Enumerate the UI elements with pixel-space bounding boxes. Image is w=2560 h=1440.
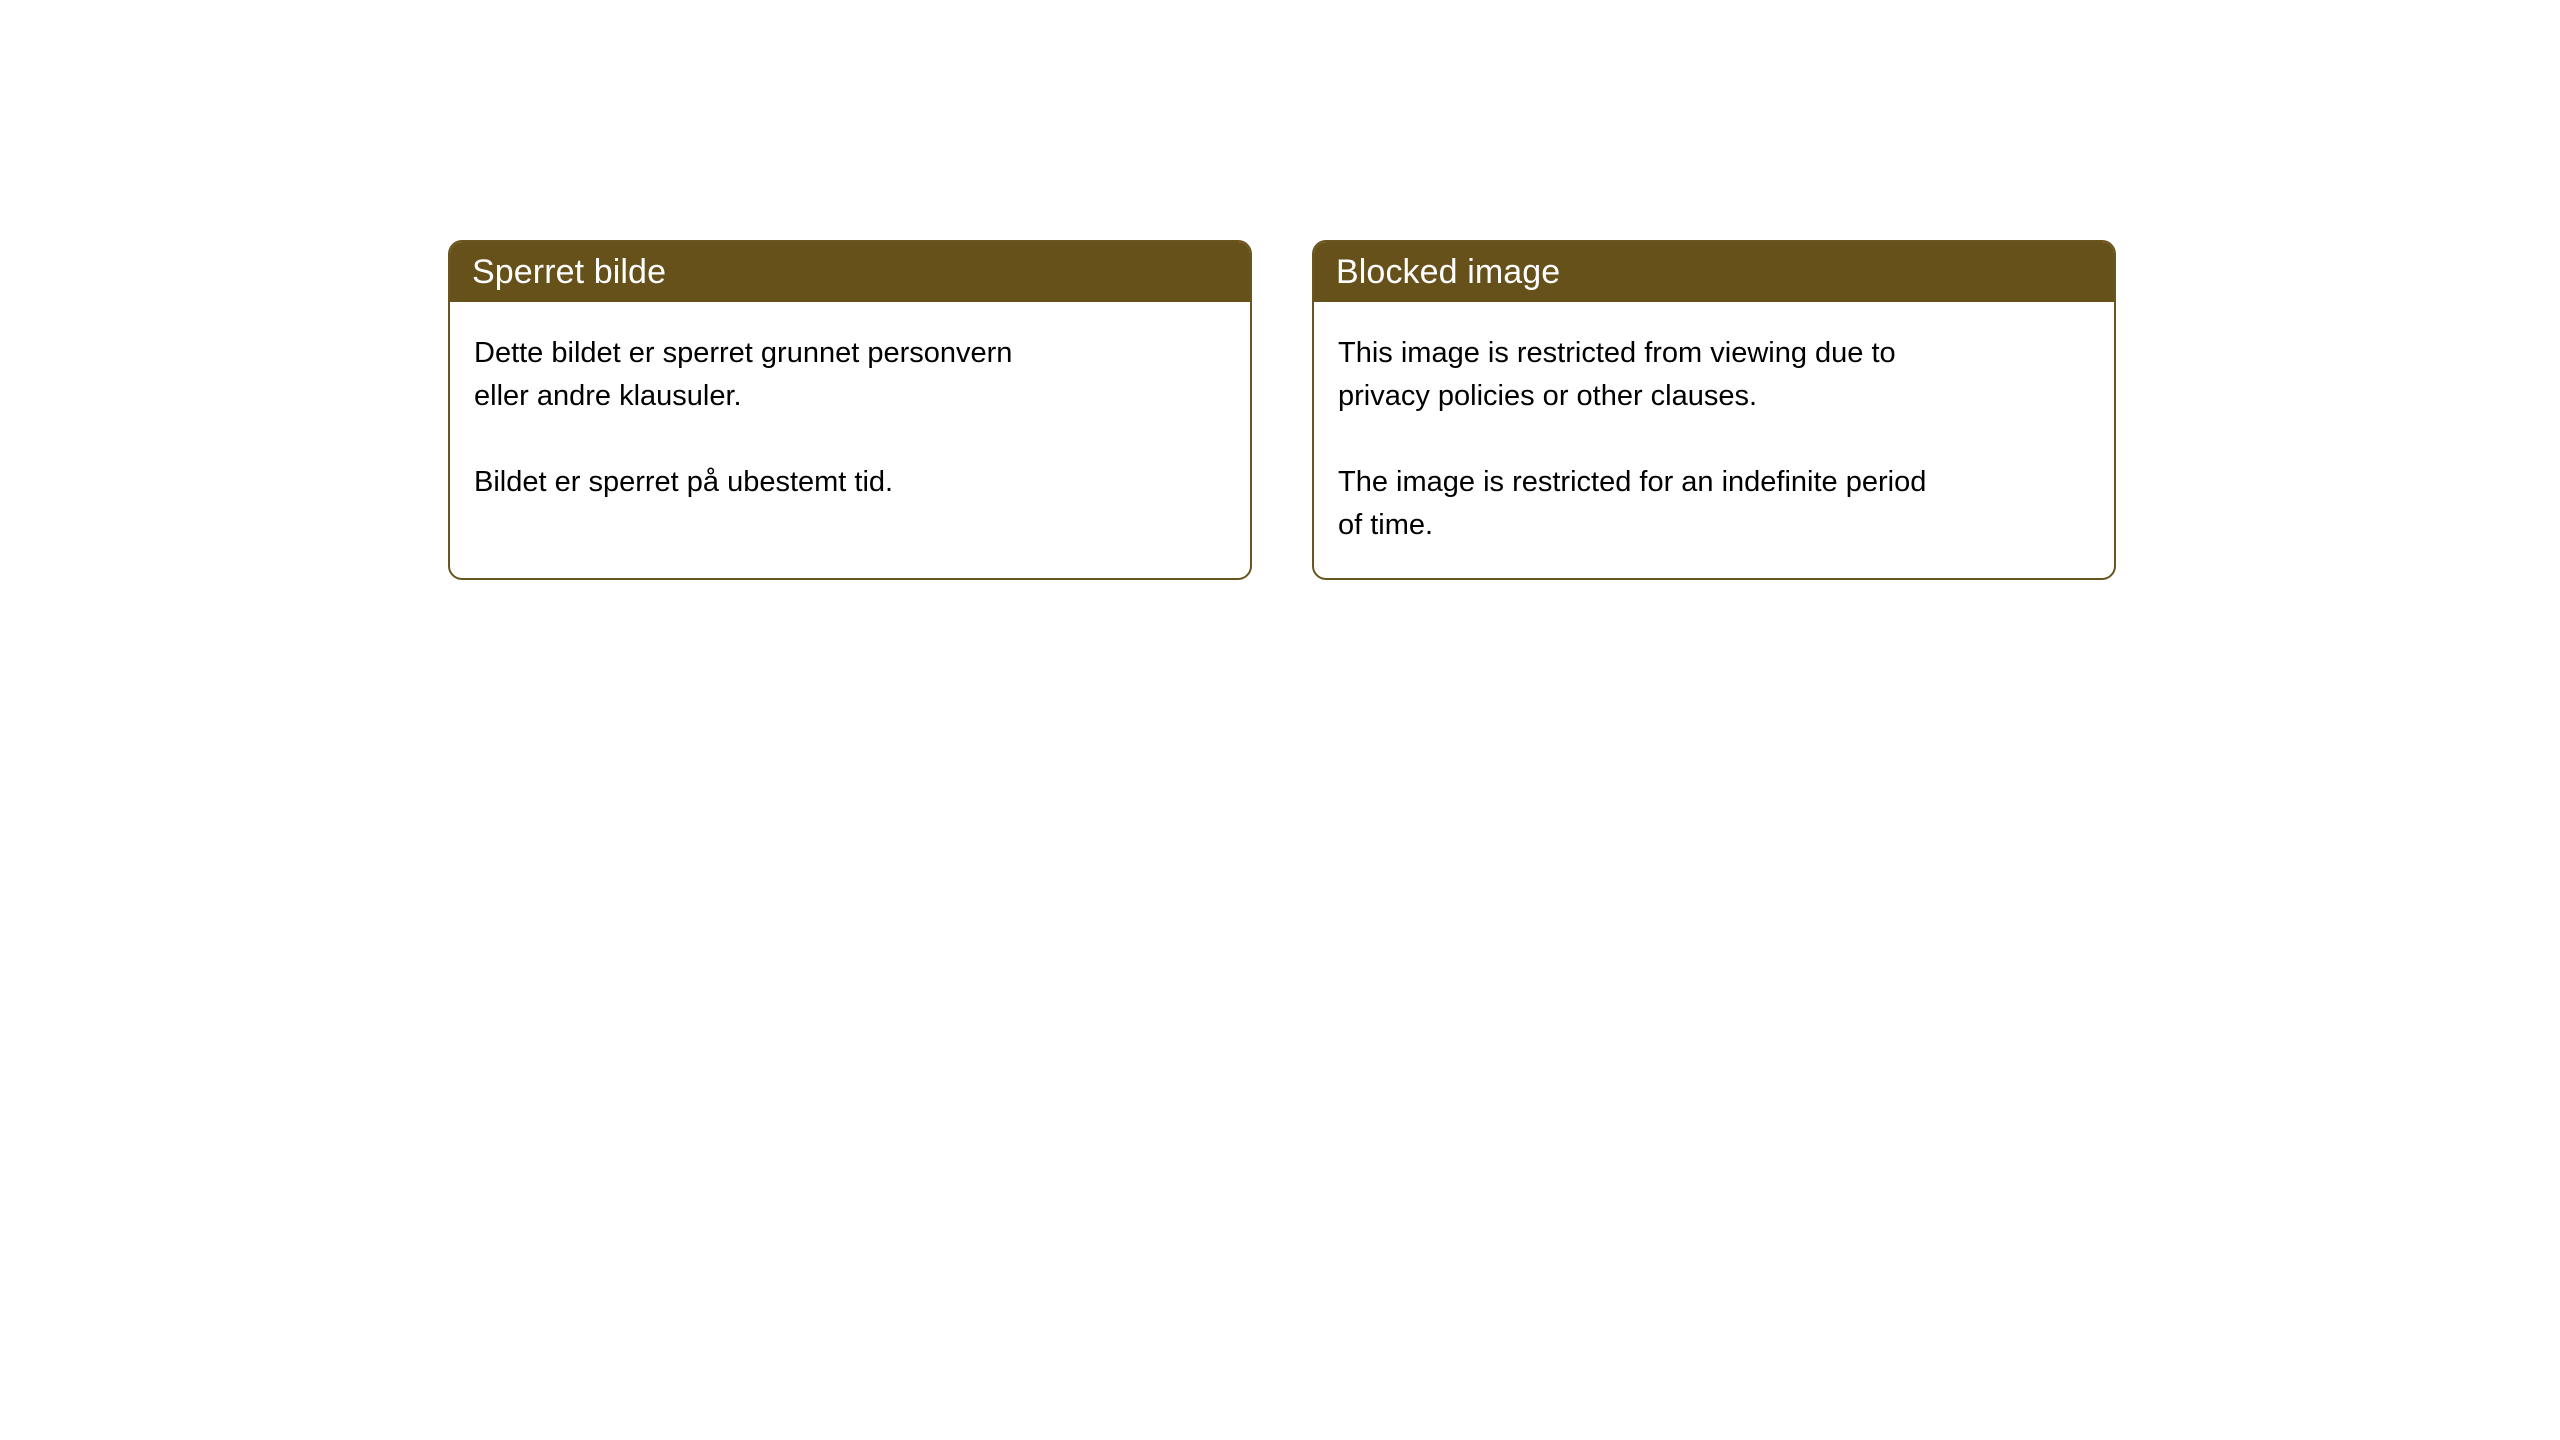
blocked-image-notice-area: Sperret bilde Dette bildet er sperret gr… bbox=[0, 0, 2560, 1440]
card-body-english: This image is restricted from viewing du… bbox=[1314, 302, 2114, 547]
card-title-norwegian: Sperret bilde bbox=[472, 255, 666, 289]
card-body-norwegian: Dette bildet er sperret grunnet personve… bbox=[450, 302, 1250, 504]
card-paragraph-secondary-english: The image is restricted for an indefinit… bbox=[1338, 461, 2088, 547]
card-paragraph-primary-english: This image is restricted from viewing du… bbox=[1338, 332, 2088, 418]
card-paragraph-primary-norwegian: Dette bildet er sperret grunnet personve… bbox=[474, 332, 1224, 418]
card-header-norwegian: Sperret bilde bbox=[450, 242, 1250, 302]
card-paragraph-secondary-norwegian: Bildet er sperret på ubestemt tid. bbox=[474, 461, 1224, 504]
card-header-english: Blocked image bbox=[1314, 242, 2114, 302]
blocked-image-card-norwegian: Sperret bilde Dette bildet er sperret gr… bbox=[448, 240, 1252, 580]
card-title-english: Blocked image bbox=[1336, 255, 1560, 289]
blocked-image-card-english: Blocked image This image is restricted f… bbox=[1312, 240, 2116, 580]
